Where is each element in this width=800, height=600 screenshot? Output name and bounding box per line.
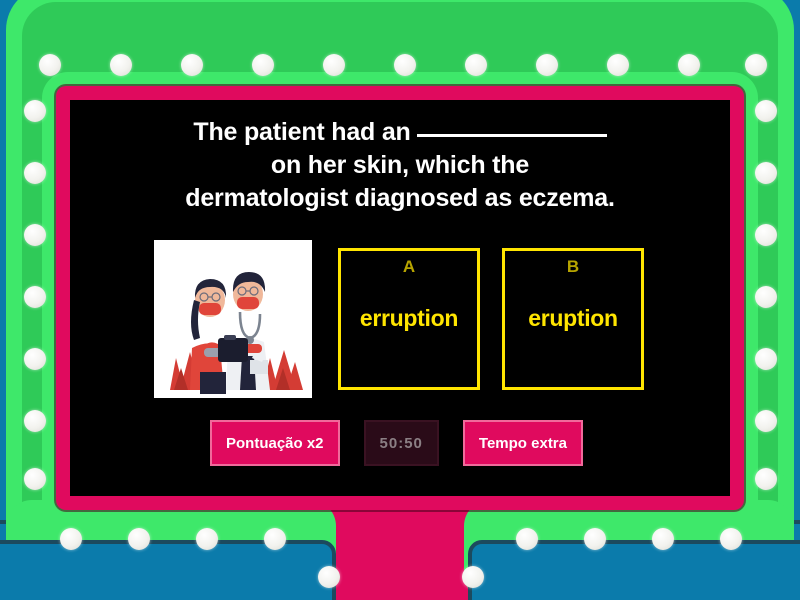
answer-options: A erruption B eruption: [338, 248, 644, 390]
marquee-bulb: [755, 224, 777, 246]
cabinet-foot-left-lower: [0, 540, 336, 600]
marquee-bulb: [584, 528, 606, 550]
question-line-1-text: The patient had an: [193, 118, 410, 146]
marquee-bulb: [465, 54, 487, 76]
marquee-bulb: [264, 528, 286, 550]
marquee-bulb: [678, 54, 700, 76]
marquee-bulb: [755, 348, 777, 370]
marquee-bulb: [24, 410, 46, 432]
marquee-bulb: [755, 468, 777, 490]
marquee-bulb: [110, 54, 132, 76]
marquee-bulb: [516, 528, 538, 550]
answer-option-a[interactable]: A erruption: [338, 248, 480, 390]
answer-option-b-letter: B: [505, 257, 641, 277]
marquee-bulb: [720, 528, 742, 550]
question-line-1: The patient had an: [88, 116, 712, 149]
powerup-double-points[interactable]: Pontuação x2: [210, 420, 340, 466]
question-line-2: on her skin, which the: [88, 149, 712, 182]
marquee-bulb: [536, 54, 558, 76]
answer-option-b[interactable]: B eruption: [502, 248, 644, 390]
marquee-bulb: [318, 566, 340, 588]
powerup-fifty-fifty: 50:50: [364, 420, 439, 466]
marquee-bulb: [755, 100, 777, 122]
marquee-bulb: [24, 286, 46, 308]
quiz-game-stage: The patient had an on her skin, which th…: [0, 0, 800, 600]
marquee-bulb: [755, 162, 777, 184]
powerup-extra-time[interactable]: Tempo extra: [463, 420, 583, 466]
question-text: The patient had an on her skin, which th…: [88, 116, 712, 215]
question-blank: [417, 134, 607, 137]
marquee-bulb: [196, 528, 218, 550]
answer-option-a-text: erruption: [341, 305, 477, 332]
answer-option-a-letter: A: [341, 257, 477, 277]
marquee-bulb: [24, 468, 46, 490]
quiz-screen: The patient had an on her skin, which th…: [70, 100, 730, 496]
marquee-bulb: [652, 528, 674, 550]
marquee-bulb: [462, 566, 484, 588]
marquee-bulb: [181, 54, 203, 76]
doctor-patient-illustration: [154, 240, 312, 398]
marquee-bulb: [24, 100, 46, 122]
marquee-bulb: [24, 162, 46, 184]
marquee-bulb: [607, 54, 629, 76]
marquee-bulb: [24, 348, 46, 370]
marquee-bulb: [394, 54, 416, 76]
answer-option-b-text: eruption: [505, 305, 641, 332]
powerup-bar: Pontuação x2 50:50 Tempo extra: [210, 420, 583, 466]
question-line-3: dermatologist diagnosed as eczema.: [88, 182, 712, 215]
marquee-bulb: [60, 528, 82, 550]
marquee-bulb: [755, 286, 777, 308]
marquee-bulb: [39, 54, 61, 76]
question-image: [154, 240, 312, 398]
marquee-bulb: [755, 410, 777, 432]
marquee-bulb: [252, 54, 274, 76]
cabinet-foot-right-lower: [468, 540, 800, 600]
marquee-bulb: [745, 54, 767, 76]
marquee-bulb: [323, 54, 345, 76]
marquee-bulb: [24, 224, 46, 246]
marquee-bulb: [128, 528, 150, 550]
